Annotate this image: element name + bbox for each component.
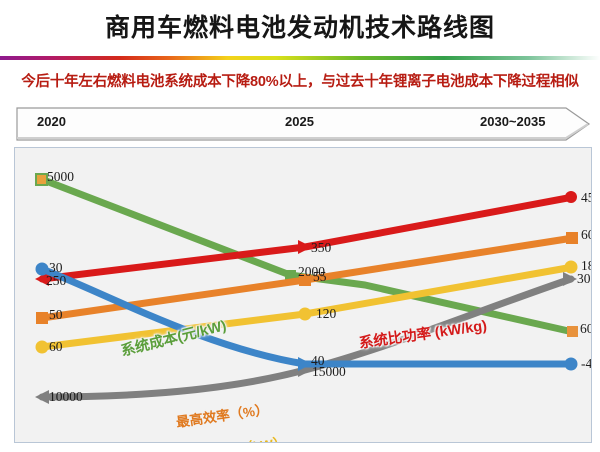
value-cold-2035: -40: [581, 356, 592, 372]
value-eff-2035: 60: [581, 227, 592, 243]
page-title: 商用车燃料电池发动机技术路线图: [0, 8, 600, 44]
value-eff-2020: 50: [49, 307, 63, 323]
value-rated-2020: 60: [49, 339, 63, 355]
value-cost-2020: 5000: [47, 169, 74, 185]
chart-lines-svg: [15, 148, 591, 442]
value-eff-2025: 55: [313, 269, 327, 285]
timeline-label-2030-2035: 2030~2035: [480, 114, 545, 129]
value-cost-2035: 600: [580, 321, 592, 337]
gradient-divider: [0, 56, 600, 60]
subtitle-text: 今后十年左右燃料电池系统成本下降80%以上，与过去十年锂离子电池成本下降过程相似: [0, 70, 600, 91]
value-life-2035: 30000: [577, 271, 592, 287]
value-cold-2025: 40: [311, 353, 325, 369]
timeline-banner: 2020 2025 2030~2035: [14, 105, 592, 143]
value-rated-2025: 120: [316, 306, 336, 322]
value-life-2020: 10000: [49, 389, 83, 405]
value-cold-2020: 30: [49, 260, 63, 276]
chart-plot-area: 5000 2000 600 250 350 450 50 55 60 60 12…: [14, 147, 592, 443]
value-power-2025: 350: [311, 240, 331, 256]
slide-root: 商用车燃料电池发动机技术路线图 今后十年左右燃料电池系统成本下降80%以上，与过…: [0, 0, 600, 452]
timeline-label-2020: 2020: [37, 114, 66, 129]
timeline-label-2025: 2025: [285, 114, 314, 129]
value-power-2035: 450: [581, 190, 592, 206]
